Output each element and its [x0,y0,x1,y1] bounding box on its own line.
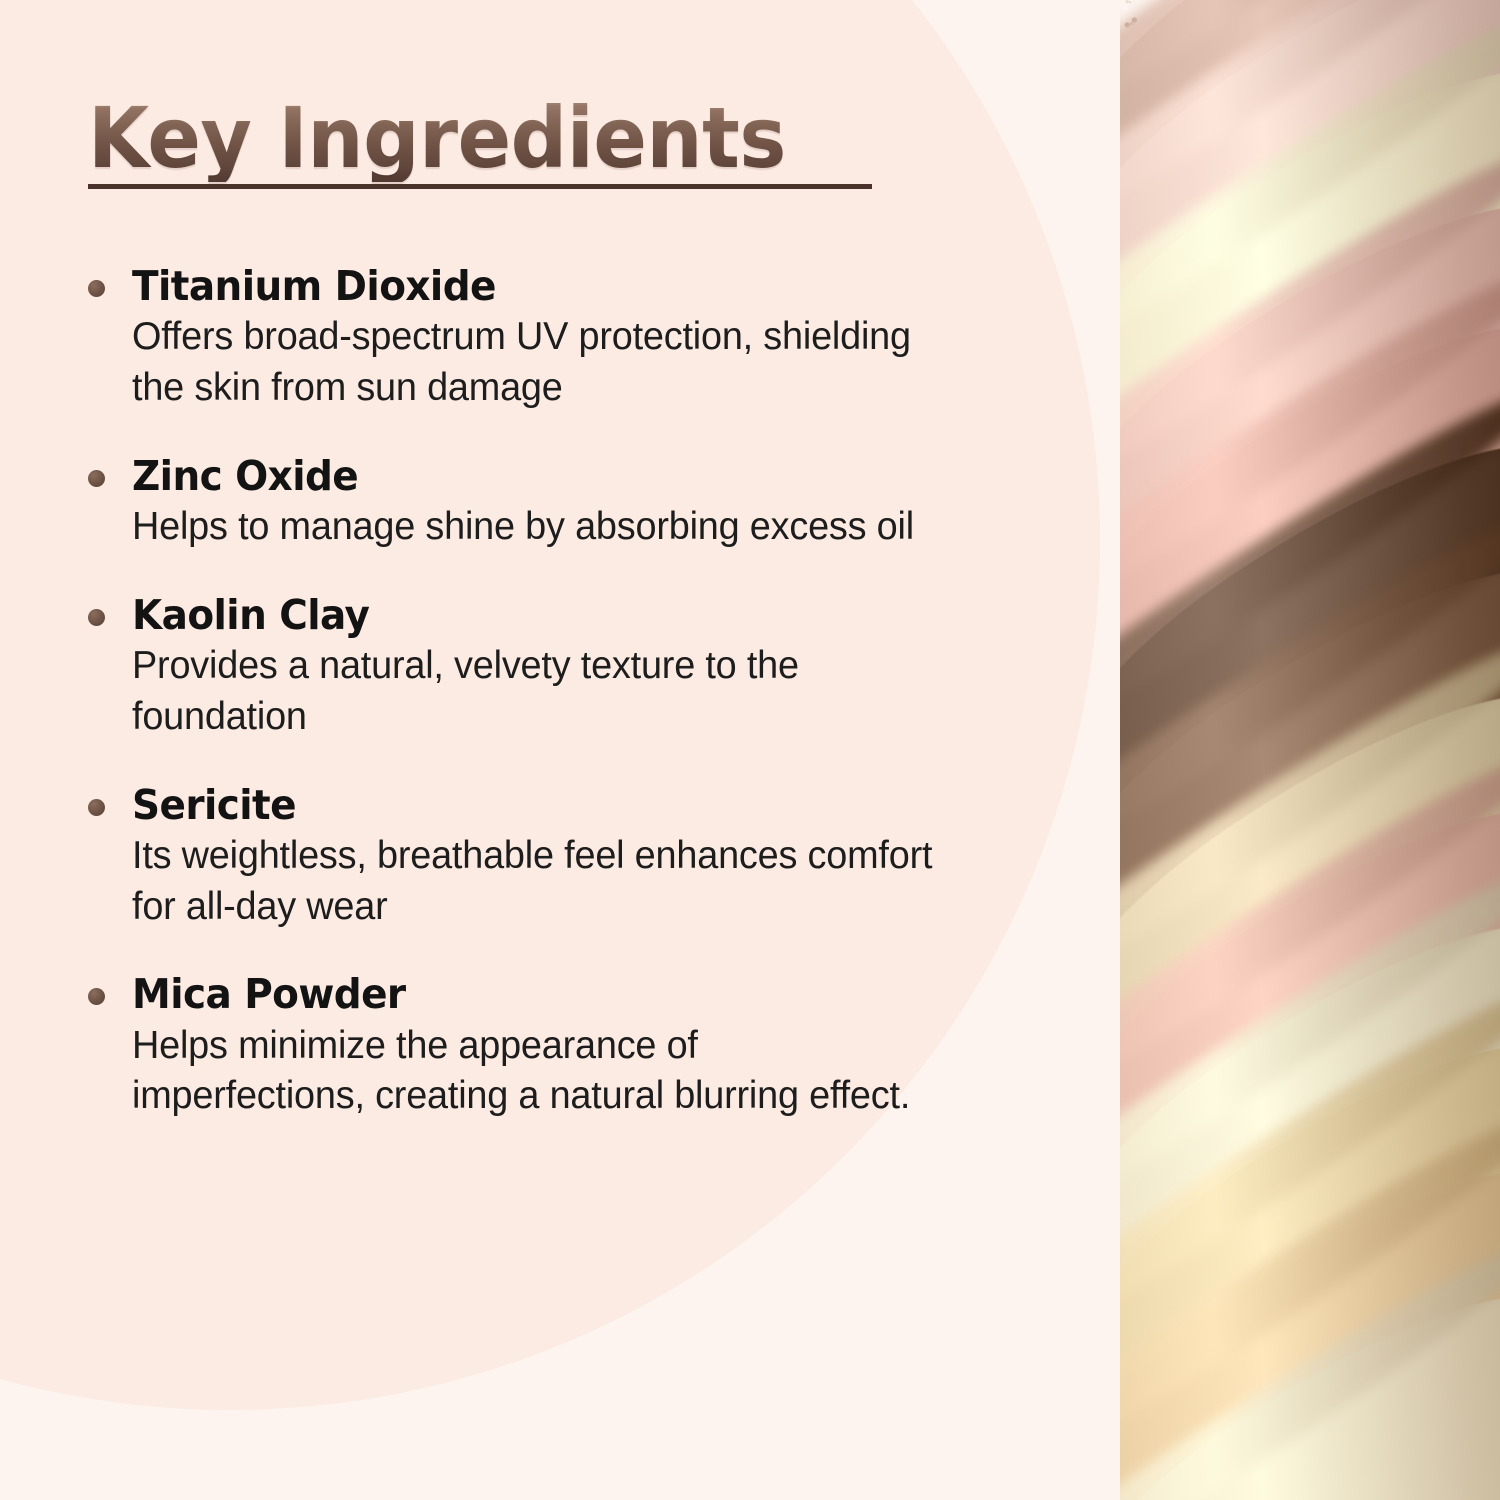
ingredient-description: Provides a natural, velvety texture to t… [132,641,937,742]
ingredient-item: SericiteIts weightless, breathable feel … [88,781,968,933]
ingredient-description: Helps minimize the appearance of imperfe… [132,1021,937,1122]
ingredient-description: Offers broad-spectrum UV protection, shi… [132,312,937,413]
title-underline-rule [88,184,872,189]
ingredient-name: Sericite [132,781,926,829]
ingredient-name: Titanium Dioxide [132,262,926,310]
ingredient-name: Kaolin Clay [132,591,926,639]
ingredient-description: Helps to manage shine by absorbing exces… [132,502,937,553]
ingredient-item: Mica PowderHelps minimize the appearance… [88,970,968,1122]
ingredient-item: Kaolin ClayProvides a natural, velvety t… [88,591,968,743]
ingredient-name: Zinc Oxide [132,452,926,500]
ingredient-description: Its weightless, breathable feel enhances… [132,831,937,932]
ingredient-item: Titanium DioxideOffers broad-spectrum UV… [88,262,968,414]
page-title-wrap: Key Ingredients [88,96,831,182]
ingredient-item: Zinc OxideHelps to manage shine by absor… [88,452,968,553]
product-ingredients-infographic: Key Ingredients Titanium DioxideOffers b… [0,0,1500,1500]
bullet-point-icon [88,470,105,487]
page-title: Key Ingredients [88,96,786,182]
bullet-point-icon [88,988,105,1005]
bullet-point-icon [88,609,105,626]
bullet-point-icon [88,799,105,816]
ingredient-name: Mica Powder [132,970,926,1018]
powder-swatch-image [1120,0,1500,1500]
text-content-panel: Key Ingredients Titanium DioxideOffers b… [0,0,1000,1500]
bullet-point-icon [88,280,105,297]
ingredients-list: Titanium DioxideOffers broad-spectrum UV… [88,262,968,1122]
